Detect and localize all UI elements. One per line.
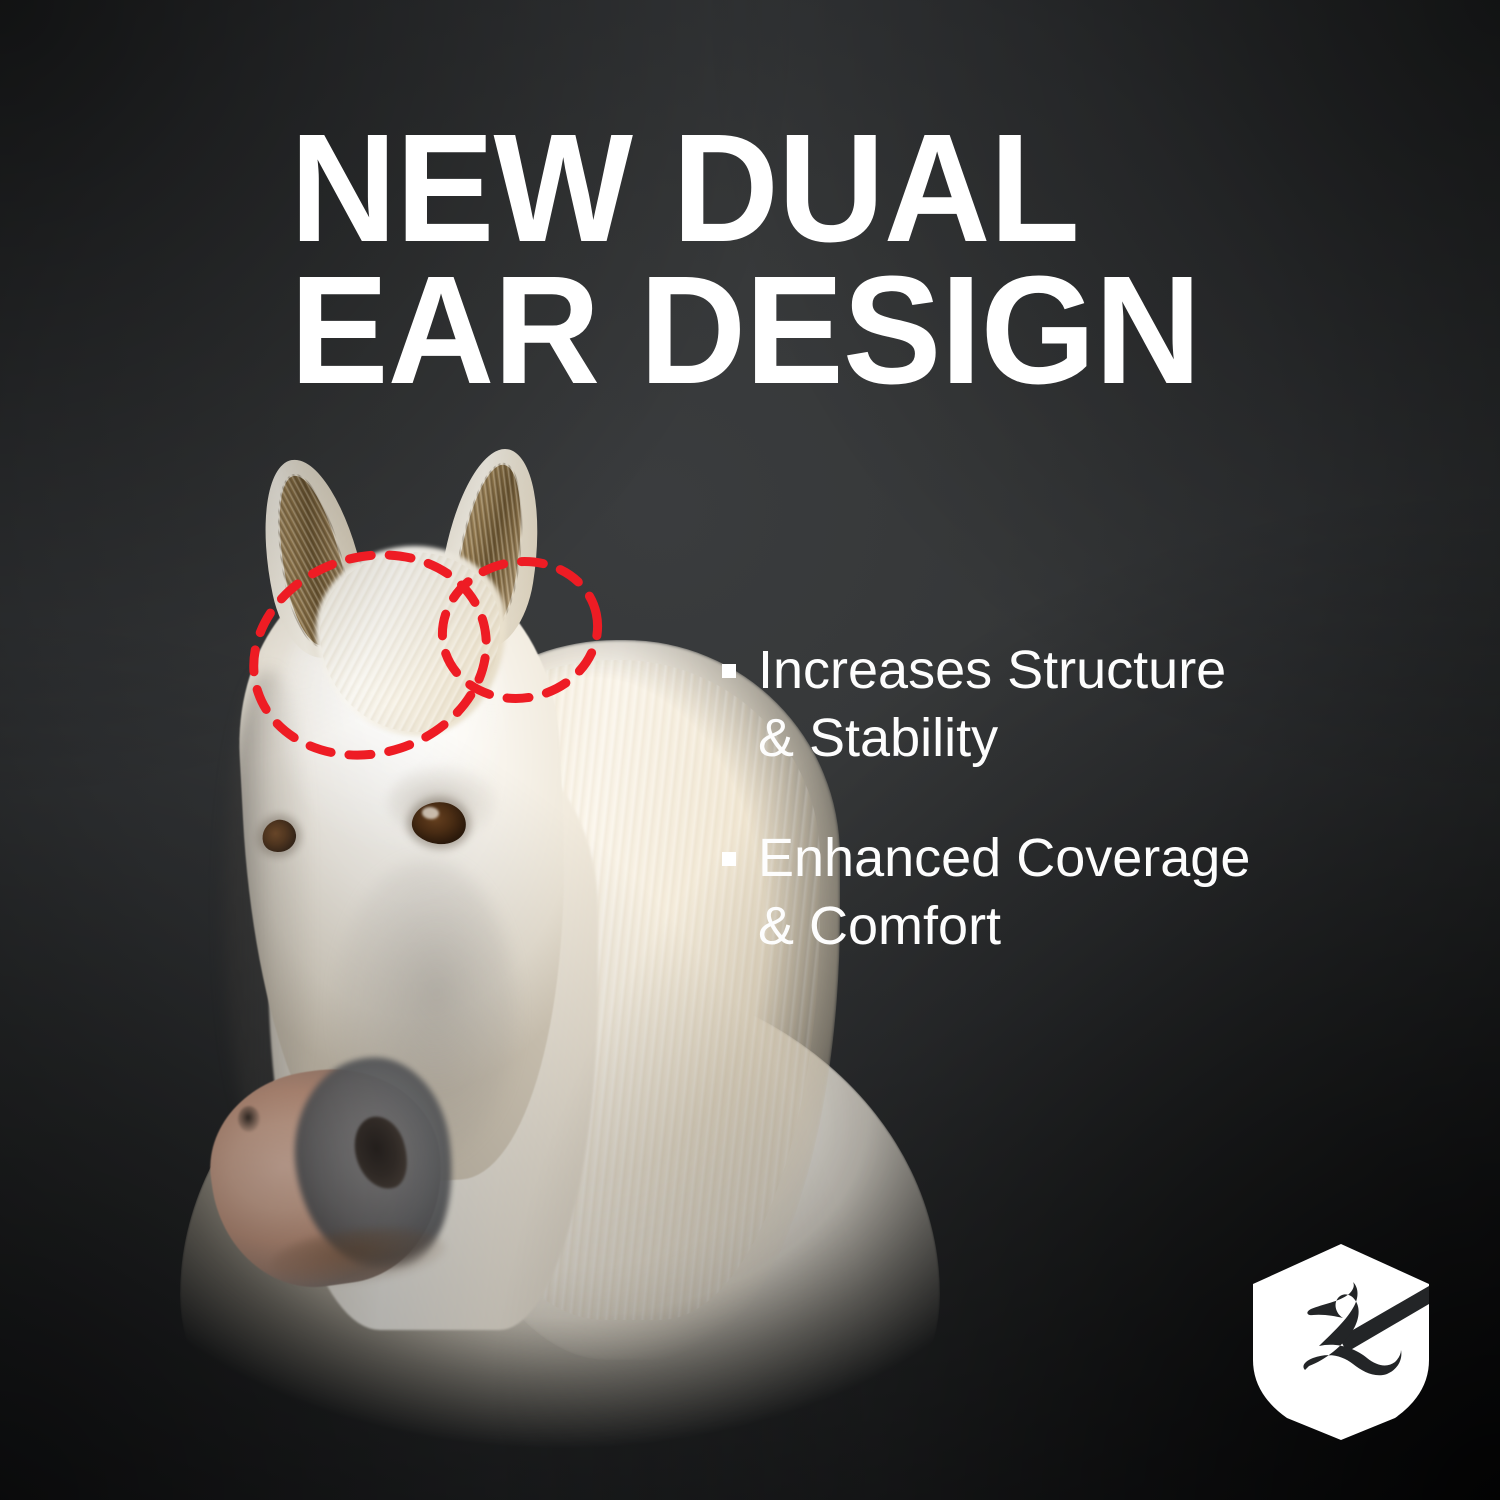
headline-line-1: NEW DUAL [290,118,1231,260]
headline-line-2: EAR DESIGN [290,260,1231,402]
feature-line-2: & Comfort [758,896,1001,956]
feature-list: Increases Structure & Stability Enhanced… [722,636,1422,1012]
feature-text: Increases Structure & Stability [758,636,1226,772]
feature-text: Enhanced Coverage & Comfort [758,824,1250,960]
list-item: Enhanced Coverage & Comfort [722,824,1422,960]
marketing-banner: NEW DUAL EAR DESIGN Increases Structure … [0,0,1500,1500]
brand-logo [1243,1242,1439,1442]
page-title: NEW DUAL EAR DESIGN [290,118,1231,401]
feature-line-1: Increases Structure [758,640,1226,700]
square-bullet-icon [722,852,736,866]
list-item: Increases Structure & Stability [722,636,1422,772]
feature-line-1: Enhanced Coverage [758,828,1250,888]
square-bullet-icon [722,664,736,678]
feature-line-2: & Stability [758,708,998,768]
